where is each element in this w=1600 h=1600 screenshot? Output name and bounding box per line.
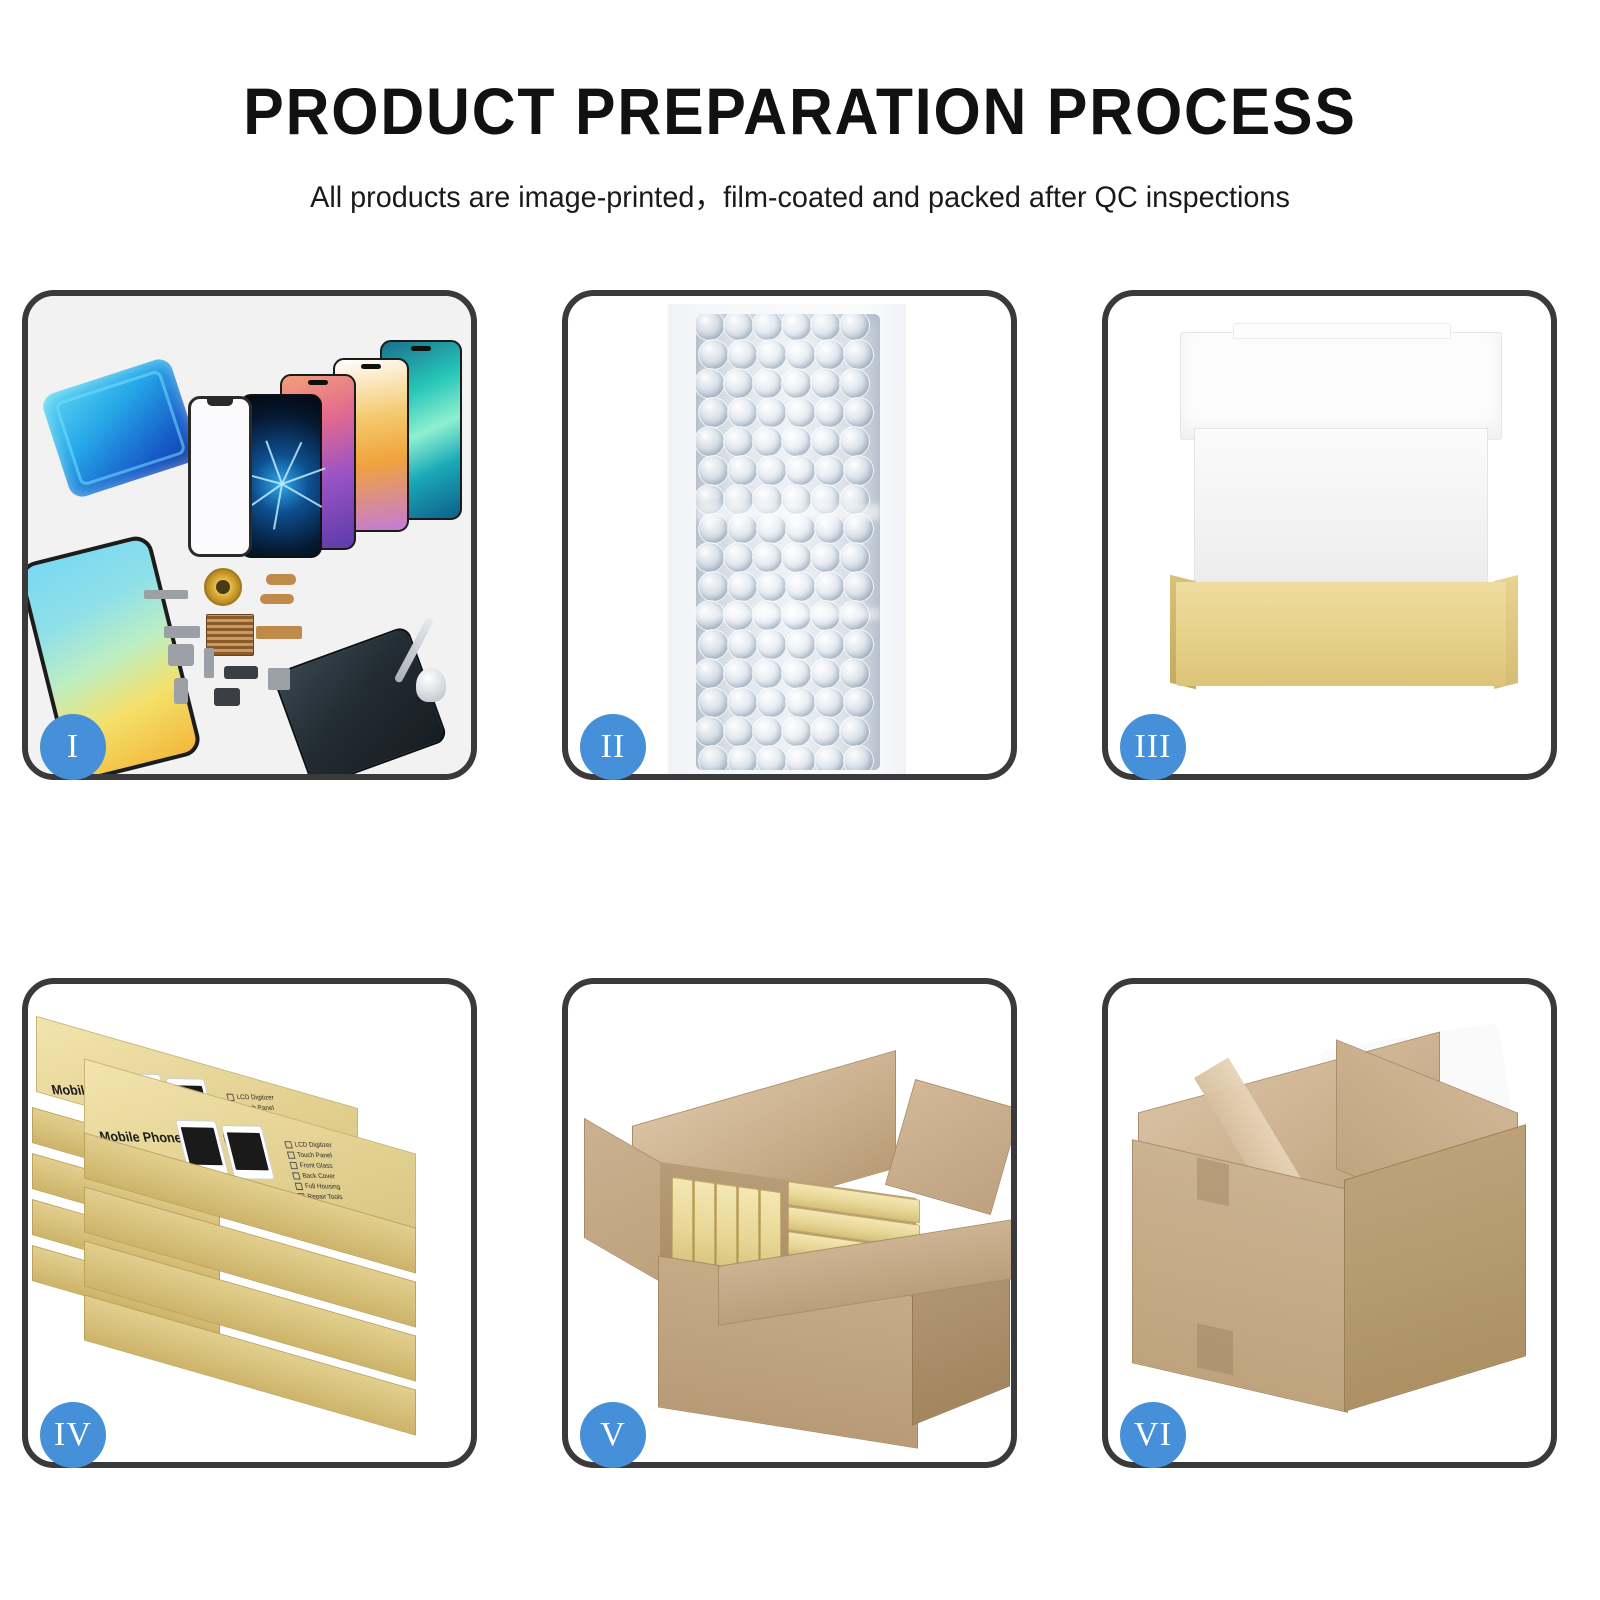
bubble-cell [810,542,841,573]
tape-patch [1197,1323,1233,1375]
page-header: PRODUCT PREPARATION PROCESS All products… [0,0,1600,216]
bubble-cell [814,745,845,770]
bubble-cell [810,716,841,747]
step-badge-4: IV [40,1402,106,1468]
bubble-cell [843,339,874,370]
bubble-cell [696,716,725,747]
page-subtitle: All products are image-printed，film-coat… [32,172,1568,216]
bubble-cell [810,426,841,457]
bubble-cell [696,542,725,573]
bubble-cell [785,745,816,770]
process-step-5[interactable]: V [562,978,1017,1468]
bubble-cell [843,571,874,602]
step-badge-6: VI [1120,1402,1186,1468]
bubble-cell [814,687,845,718]
bubble-cell [698,571,729,602]
step-4-image: Mobile Phone Spare Parts LCD Digitizer T… [28,984,471,1462]
bubble-cell [752,542,783,573]
speaker-part-icon [144,590,188,599]
bubble-cell [727,571,758,602]
vibrator-part-icon [268,668,290,690]
bubble-cell [810,368,841,399]
page-title: PRODUCT PREPARATION PROCESS [64,78,1536,144]
bubble-cell [814,397,845,428]
phone-notch-icon [308,380,328,385]
bubble-cell [752,658,783,689]
bubble-cell [698,455,729,486]
bubble-cell [843,397,874,428]
ic-chip-part-icon [224,666,258,679]
step-6-image [1108,984,1551,1462]
bubble-cell [752,314,783,341]
wireless-coil-part-icon [204,568,242,606]
bubble-cell [756,687,787,718]
step-badge-1: I [40,714,106,780]
cracked-screen-graphic [240,394,322,558]
process-step-4[interactable]: Mobile Phone Spare Parts LCD Digitizer T… [22,978,477,1468]
bubble-cell [696,658,725,689]
bubble-cell [727,629,758,660]
cleaning-brush-icon [416,668,446,702]
bubble-wrap-body [696,314,880,770]
bubble-cell [843,687,874,718]
box-front-panel [1176,582,1506,686]
flex-cable-part-icon [266,574,296,585]
bubble-cell [814,455,845,486]
step-5-image [568,984,1011,1462]
bubble-cell [698,629,729,660]
step-badge-3: III [1120,714,1186,780]
bubble-cell [696,426,725,457]
box-screen-photo [221,1125,275,1180]
bubble-cell [727,745,758,770]
bubble-cell [727,687,758,718]
bubble-cell [781,426,812,457]
bubble-cell [843,629,874,660]
bubble-cell [723,314,754,341]
process-step-2[interactable]: II [562,290,1017,780]
bubble-cell [839,542,870,573]
step-badge-2: II [580,714,646,780]
box-lid-flap [1180,332,1502,440]
bubble-cell [723,716,754,747]
process-grid: I II III [0,290,1600,1468]
step-badge-5: V [580,1402,646,1468]
bubble-cell [781,542,812,573]
bubble-cell [727,339,758,370]
bubble-cell [752,716,783,747]
bubble-cell [843,745,874,770]
bubble-cell [785,455,816,486]
phone-notch-icon [361,364,381,369]
tape-patch [1197,1157,1229,1206]
bubble-cell [696,368,725,399]
bubble-cell [839,368,870,399]
phone-notch-icon [411,346,431,351]
bubble-cell [814,629,845,660]
bubble-cell [781,368,812,399]
bubble-cell [839,426,870,457]
bubble-cell [698,339,729,370]
process-step-1[interactable]: I [22,290,477,780]
step-3-image [1108,296,1551,774]
bubble-cell [756,629,787,660]
bubble-cell [810,314,841,341]
box-inner-wall [1194,428,1488,588]
bubble-cell [785,339,816,370]
bubble-cell [698,687,729,718]
bubble-cell [727,455,758,486]
connector-part-icon [164,626,200,638]
bubble-cell [839,658,870,689]
film-highlight [696,504,880,520]
camera-part-icon [214,688,240,706]
step-1-image [28,296,471,774]
bubble-cell [843,455,874,486]
bubble-cell [723,426,754,457]
bubble-cell [781,314,812,341]
process-step-6[interactable]: VI [1102,978,1557,1468]
step-2-image [568,296,1011,774]
antenna-part-icon [204,648,214,678]
bracket-part-icon [168,644,194,666]
bubble-cell [723,658,754,689]
bubble-cell [723,368,754,399]
sim-tray-part-icon [174,678,188,704]
bubble-cell [785,571,816,602]
bubble-cell [698,397,729,428]
bubble-cell [814,339,845,370]
bubble-cell [727,397,758,428]
bubble-cell [814,571,845,602]
ribbon-part-icon [256,626,302,639]
bubble-cell [785,629,816,660]
bubble-cell [785,687,816,718]
bubble-cell [839,716,870,747]
flex-cable-part-icon [260,594,294,604]
bubble-cell [781,658,812,689]
process-row-top: I II III [0,290,1600,780]
bubble-cell [756,397,787,428]
bubble-cell [696,314,725,341]
bubble-cell [810,658,841,689]
bubble-cell [756,571,787,602]
front-glass-graphic [188,396,252,557]
process-step-3[interactable]: III [1102,290,1557,780]
bubble-cell [785,397,816,428]
bubble-cell [756,455,787,486]
bubble-cell [756,339,787,370]
film-highlight [696,608,880,620]
bubble-cell [839,314,870,341]
bubble-cell [781,716,812,747]
process-row-bottom: Mobile Phone Spare Parts LCD Digitizer T… [0,978,1600,1468]
retail-box-stack: Mobile Phone Spare Parts LCD Digitizer T… [28,984,471,1462]
bubble-cell [698,745,729,770]
bubble-cell [723,542,754,573]
bubble-cell [752,368,783,399]
bubble-cell [752,426,783,457]
bubble-cell [756,745,787,770]
